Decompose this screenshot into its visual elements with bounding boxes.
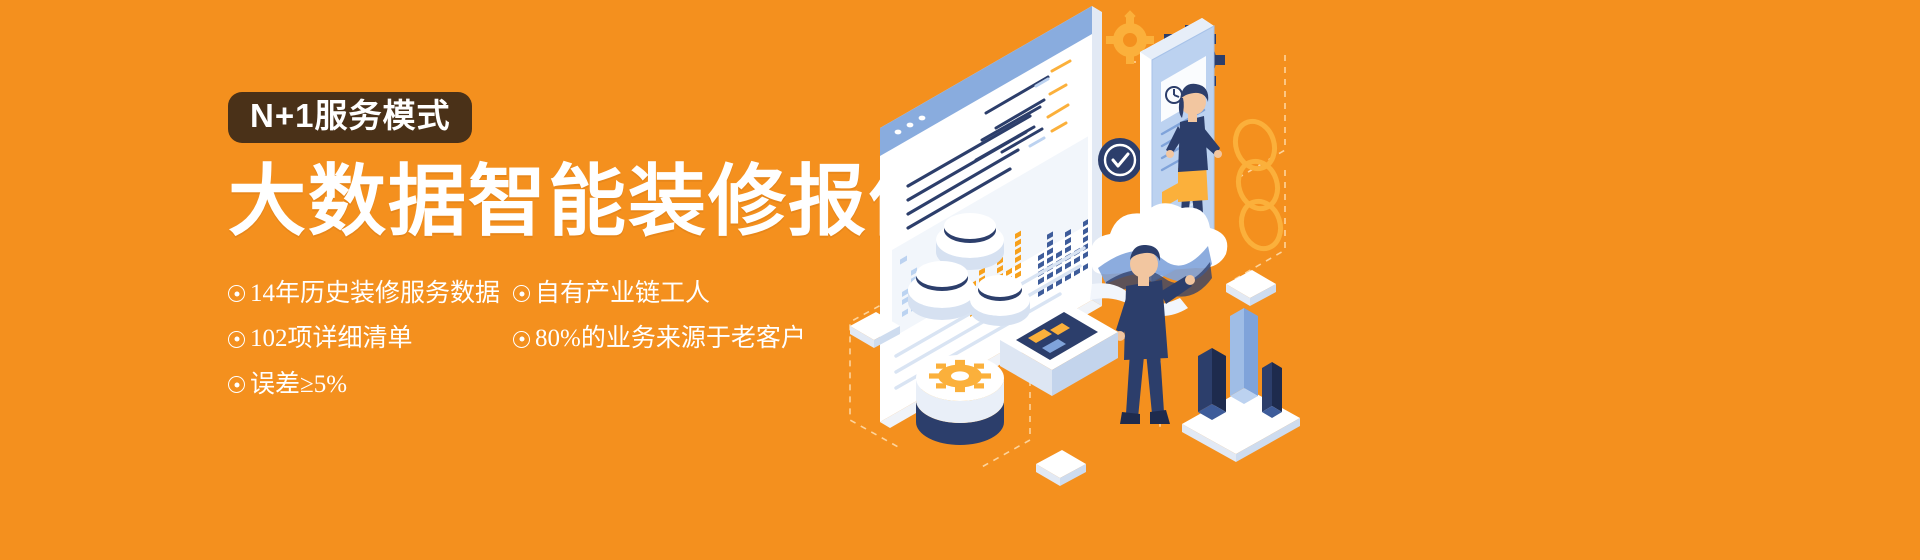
list-item-label: 80%的业务来源于老客户 — [535, 316, 806, 362]
list-item: 误差≥5% — [228, 362, 513, 408]
list-item: 102项详细清单 — [228, 316, 513, 362]
bullet-column-left: 14年历史装修服务数据 102项详细清单 误差≥5% — [228, 271, 513, 408]
list-item-label: 14年历史装修服务数据 — [250, 271, 500, 317]
circled-dot-icon — [513, 331, 530, 348]
list-item: 80%的业务来源于老客户 — [513, 316, 853, 362]
banner-root: N+1服务模式 大数据智能装修报价 14年历史装修服务数据 102项详细清单 误… — [0, 0, 1920, 560]
circled-dot-icon — [228, 376, 245, 393]
feature-bullets: 14年历史装修服务数据 102项详细清单 误差≥5% 自有产业链工人 — [228, 271, 868, 408]
ring-arcs — [1230, 116, 1287, 253]
bar-chart-platform — [1182, 308, 1300, 462]
bullet-column-right: 自有产业链工人 80%的业务来源于老客户 — [513, 271, 853, 408]
service-model-tag: N+1服务模式 — [228, 92, 472, 143]
gear-cylinder — [916, 355, 1004, 445]
check-badge — [1098, 138, 1142, 182]
hero-illustration — [830, 0, 1390, 560]
circled-dot-icon — [228, 285, 245, 302]
circled-dot-icon — [228, 331, 245, 348]
list-item-label: 102项详细清单 — [250, 316, 413, 362]
text-block: N+1服务模式 大数据智能装修报价 14年历史装修服务数据 102项详细清单 误… — [228, 92, 908, 407]
list-item: 自有产业链工人 — [513, 271, 853, 317]
floating-card — [1226, 270, 1276, 306]
list-item-label: 自有产业链工人 — [535, 271, 710, 317]
page-title: 大数据智能装修报价 — [228, 161, 908, 243]
list-item: 14年历史装修服务数据 — [228, 271, 513, 317]
floating-card — [1036, 450, 1086, 486]
list-item-label: 误差≥5% — [250, 362, 347, 408]
circled-dot-icon — [513, 285, 530, 302]
